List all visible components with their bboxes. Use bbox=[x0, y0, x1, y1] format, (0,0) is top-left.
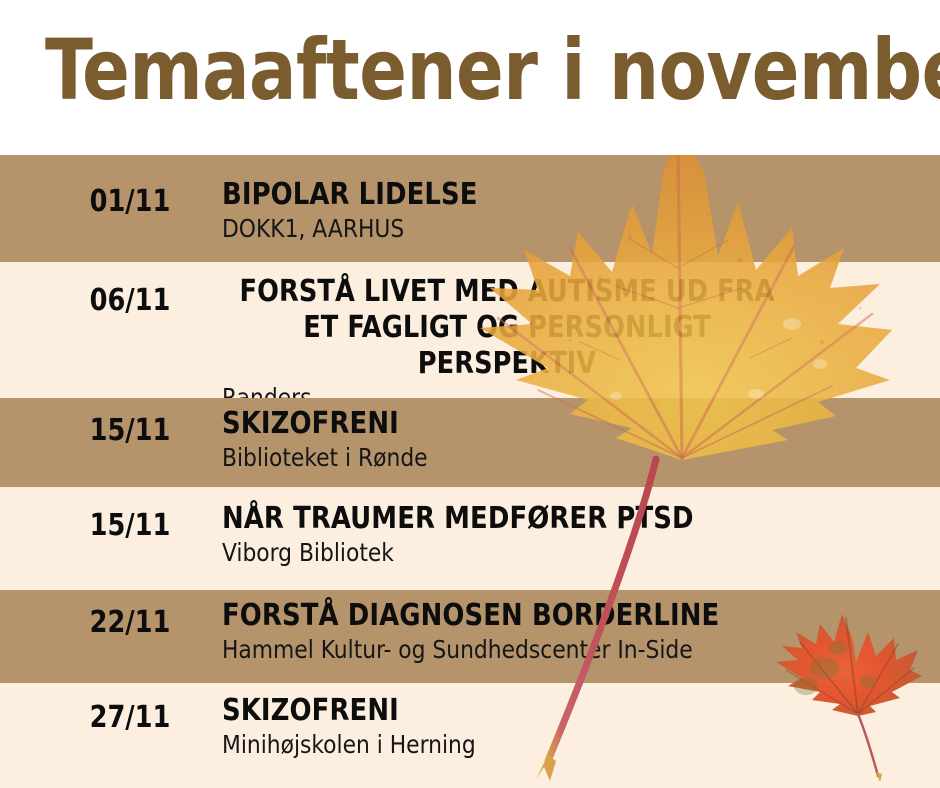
event-title: BIPOLAR LIDELSE bbox=[222, 177, 894, 213]
event-text-block: NÅR TRAUMER MEDFØRER PTSDViborg Bibliote… bbox=[222, 501, 922, 568]
event-text-block: FORSTÅ DIAGNOSEN BORDERLINEHammel Kultur… bbox=[222, 598, 922, 665]
event-text-block: BIPOLAR LIDELSEDOKK1, AARHUS bbox=[222, 177, 922, 244]
title-area: Temaaftener i november bbox=[0, 0, 940, 155]
event-row: 15/11SKIZOFRENIBiblioteket i Rønde bbox=[0, 398, 940, 487]
event-date: 06/11 bbox=[59, 284, 202, 318]
event-row-content: 22/11FORSTÅ DIAGNOSEN BORDERLINEHammel K… bbox=[0, 590, 940, 683]
event-date: 01/11 bbox=[59, 185, 202, 219]
event-row: 27/11SKIZOFRENIMinihøjskolen i Herning bbox=[0, 683, 940, 788]
event-row-content: 15/11SKIZOFRENIBiblioteket i Rønde bbox=[0, 398, 940, 487]
event-date: 15/11 bbox=[59, 509, 202, 543]
page-title: Temaaftener i november bbox=[45, 22, 845, 118]
event-location: Hammel Kultur- og Sundhedscenter In-Side bbox=[222, 634, 901, 665]
event-date: 27/11 bbox=[59, 701, 202, 735]
event-location: Minihøjskolen i Herning bbox=[222, 729, 901, 760]
event-title: FORSTÅ DIAGNOSEN BORDERLINE bbox=[222, 598, 894, 634]
event-row: 01/11BIPOLAR LIDELSEDOKK1, AARHUS bbox=[0, 155, 940, 262]
event-date: 15/11 bbox=[59, 414, 202, 448]
event-list: 01/11BIPOLAR LIDELSEDOKK1, AARHUS06/11FO… bbox=[0, 155, 940, 788]
event-location: Viborg Bibliotek bbox=[222, 537, 901, 568]
event-row-content: 27/11SKIZOFRENIMinihøjskolen i Herning bbox=[0, 683, 940, 788]
event-title: SKIZOFRENI bbox=[222, 406, 894, 442]
event-row-content: 15/11NÅR TRAUMER MEDFØRER PTSDViborg Bib… bbox=[0, 487, 940, 590]
event-row: 22/11FORSTÅ DIAGNOSEN BORDERLINEHammel K… bbox=[0, 590, 940, 683]
event-text-block: SKIZOFRENIBiblioteket i Rønde bbox=[222, 406, 922, 473]
event-location: DOKK1, AARHUS bbox=[222, 213, 901, 244]
event-row: 06/11FORSTÅ LIVET MED AUTISME UD FRA ET … bbox=[0, 262, 940, 398]
event-title: FORSTÅ LIVET MED AUTISME UD FRA ET FAGLI… bbox=[222, 274, 792, 382]
event-date: 22/11 bbox=[59, 606, 202, 640]
event-title: SKIZOFRENI bbox=[222, 693, 894, 729]
event-location: Biblioteket i Rønde bbox=[222, 442, 901, 473]
event-title: NÅR TRAUMER MEDFØRER PTSD bbox=[222, 501, 894, 537]
event-row-content: 01/11BIPOLAR LIDELSEDOKK1, AARHUS bbox=[0, 155, 940, 262]
event-row-content: 06/11FORSTÅ LIVET MED AUTISME UD FRA ET … bbox=[0, 262, 940, 398]
poster-canvas: 01/11BIPOLAR LIDELSEDOKK1, AARHUS06/11FO… bbox=[0, 0, 940, 788]
event-text-block: SKIZOFRENIMinihøjskolen i Herning bbox=[222, 693, 922, 760]
event-row: 15/11NÅR TRAUMER MEDFØRER PTSDViborg Bib… bbox=[0, 487, 940, 590]
event-text-block: FORSTÅ LIVET MED AUTISME UD FRA ET FAGLI… bbox=[222, 274, 922, 413]
